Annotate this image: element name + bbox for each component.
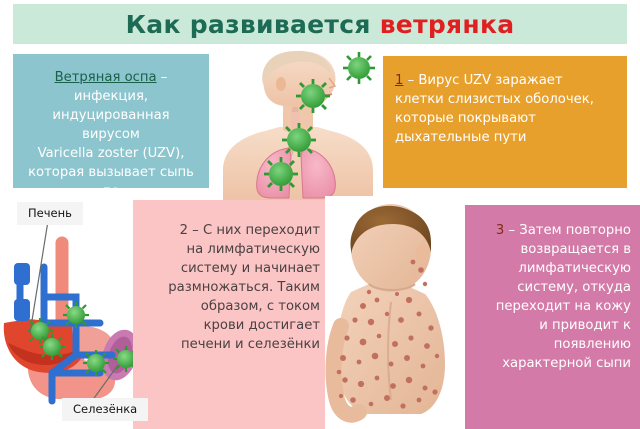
panel-step-one-text: 1 – Вирус UZV заражает клетки слизистых …	[395, 71, 615, 147]
panel-step-one-body: – Вирус UZV заражает клетки слизистых об…	[395, 73, 594, 145]
title-part-green: Как развивается	[126, 10, 380, 39]
title-banner: Как развивается ветрянка	[13, 4, 627, 44]
ear-shape	[276, 77, 286, 91]
page-title: Как развивается ветрянка	[126, 10, 515, 39]
virus-particle-midvein-icon	[83, 350, 109, 376]
vein-branch-lower	[14, 299, 30, 321]
panel-step-three-text: 3 – Затем повторно возвращается в лимфат…	[468, 221, 631, 373]
panel-intro: Ветряная оспа – инфекция, индуцированная…	[13, 54, 209, 188]
torso-lungs-svg	[209, 48, 383, 200]
virus-particle-vein-icon	[63, 302, 89, 328]
virus-particle-throat-icon	[296, 79, 330, 113]
panel-step-three-number: 3	[496, 223, 504, 238]
vein-branch-upper	[14, 263, 30, 285]
panel-intro-body: – инфекция, индуцированная вирусом Varic…	[28, 70, 194, 218]
child-ear-shape	[416, 244, 430, 264]
panel-step-three: 3 – Затем повторно возвращается в лимфат…	[459, 205, 640, 429]
virus-particle-liver-b-icon	[39, 334, 65, 360]
child-rash-illustration	[325, 196, 465, 429]
virus-particle-lung-icon	[264, 157, 298, 191]
panel-step-one: 1 – Вирус UZV заражает клетки слизистых …	[383, 56, 627, 188]
panel-step-three-body: – Затем повторно возвращается в лимфатич…	[496, 223, 631, 371]
virus-particle-nose-icon	[343, 52, 375, 84]
panel-intro-term: Ветряная оспа	[55, 70, 157, 85]
title-part-red: ветрянка	[380, 10, 515, 39]
respiratory-illustration	[209, 48, 383, 200]
panel-step-two: 2 – С них переходит на лимфатическую сис…	[133, 200, 330, 429]
panel-step-two-number: 2	[180, 223, 188, 238]
virus-particle-trachea-icon	[282, 123, 316, 157]
callout-spleen-label: Селезёнка	[62, 398, 148, 421]
callout-liver-label: Печень	[17, 202, 83, 225]
panel-intro-text: Ветряная оспа – инфекция, индуцированная…	[22, 68, 200, 220]
panel-step-two-text: 2 – С них переходит на лимфатическую сис…	[143, 221, 320, 354]
liver-spleen-svg	[0, 205, 140, 429]
child-back-rash-svg	[325, 196, 465, 429]
infographic-root: Как развивается ветрянка Ветряная оспа –…	[0, 0, 640, 429]
panel-step-two-body: – С них переходит на лимфатическую систе…	[168, 223, 320, 352]
liver-spleen-illustration	[0, 205, 140, 429]
